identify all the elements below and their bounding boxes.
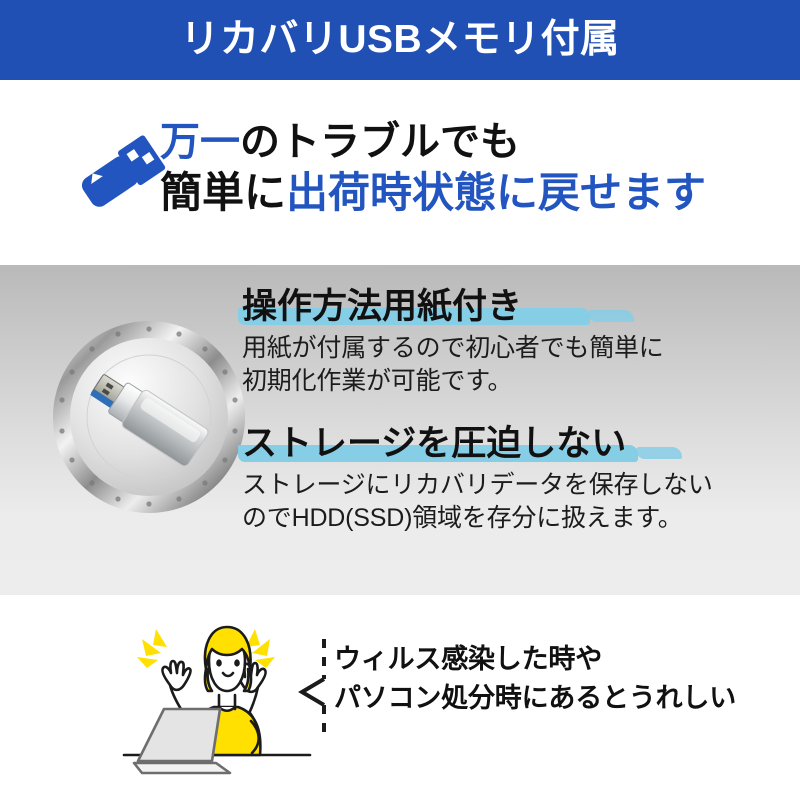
sparkle-left [137, 629, 167, 668]
lead-line-2-accent: 出荷時状態に戻せます [286, 169, 706, 216]
feature-body-line-2: 初期化作業が可能です。 [242, 365, 787, 398]
lead-line-2-prefix: 簡単に [160, 169, 286, 216]
banner-title: リカバリUSBメモリ付属 [180, 20, 619, 59]
feature-item: ストレージを圧迫しない ストレージにリカバリデータを保存しない のでHDD(SS… [242, 424, 787, 536]
feature-body-line-1: ストレージにリカバリデータを保存しない [242, 469, 787, 502]
feature-heading: 操作方法用紙付き [242, 287, 522, 326]
usb-memory-product-photo [42, 310, 257, 525]
feature-body-line-1: 用紙が付属するので初心者でも簡単に [242, 332, 787, 365]
feature-heading: ストレージを圧迫しない [242, 424, 626, 463]
lead-copy: 万一のトラブルでも 簡単に出荷時状態に戻せます [160, 118, 780, 218]
lead-section: 万一のトラブルでも 簡単に出荷時状態に戻せます [0, 80, 800, 265]
header-banner: リカバリUSBメモリ付属 [0, 0, 800, 80]
bottom-section: ウィルス感染した時や パソコン処分時にあるとうれしい [0, 595, 800, 800]
bottom-line-1: ウィルス感染した時や [334, 640, 794, 679]
feature-item: 操作方法用紙付き 用紙が付属するので初心者でも簡単に 初期化作業が可能です。 [242, 287, 787, 399]
lead-line-1-accent: 万一 [160, 120, 240, 164]
usb-flash-drive-icon [74, 132, 166, 214]
lead-line-1-rest: のトラブルでも [240, 120, 520, 164]
product-feature-banner: リカバリUSBメモリ付属 万一のトラブルでも 簡単に出荷時状態に戻せます [0, 0, 800, 800]
bottom-copy: ウィルス感染した時や パソコン処分時にあるとうれしい [334, 640, 794, 718]
feature-list: 操作方法用紙付き 用紙が付属するので初心者でも簡単に 初期化作業が可能です。 ス… [242, 287, 787, 535]
lead-line-1: 万一のトラブルでも [160, 118, 780, 167]
lead-line-2: 簡単に出荷時状態に戻せます [160, 167, 780, 218]
bottom-line-2: パソコン処分時にあるとうれしい [334, 679, 794, 718]
feature-body-line-2: のでHDD(SSD)領域を存分に扱えます。 [242, 502, 787, 535]
features-section: 操作方法用紙付き 用紙が付属するので初心者でも簡単に 初期化作業が可能です。 ス… [0, 265, 800, 595]
